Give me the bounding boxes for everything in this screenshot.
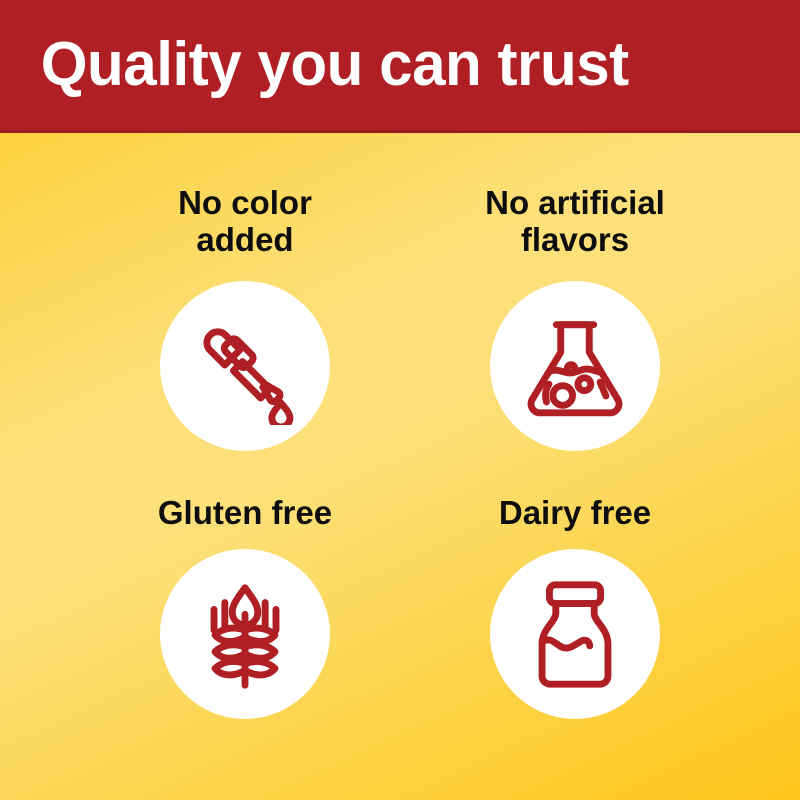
claim-badge-no-artificial-flavors: No artificial flavors [410, 133, 740, 467]
header-banner: Quality you can trust [0, 0, 800, 133]
claim-badge-dairy-free: Dairy free [410, 467, 740, 800]
claim-label-no-color-added: No color added [178, 185, 312, 259]
product-claims-poster: Quality you can trust No color added [0, 0, 800, 800]
claim-badge-gluten-free: Gluten free [80, 467, 410, 800]
milk-bottle-icon [516, 575, 634, 693]
wheat-icon [186, 575, 304, 693]
dropper-icon [186, 307, 304, 425]
claim-label-dairy-free: Dairy free [499, 495, 651, 532]
claim-label-gluten-free: Gluten free [158, 495, 332, 532]
page-title: Quality you can trust [0, 34, 629, 96]
claim-icon-circle [160, 281, 330, 451]
claim-icon-circle [490, 281, 660, 451]
claim-label-no-artificial-flavors: No artificial flavors [485, 185, 665, 259]
claim-badge-no-color-added: No color added [80, 133, 410, 467]
claim-icon-circle [160, 549, 330, 719]
claim-icon-circle [490, 549, 660, 719]
flask-icon [516, 307, 634, 425]
claims-grid: No color added [0, 133, 800, 800]
